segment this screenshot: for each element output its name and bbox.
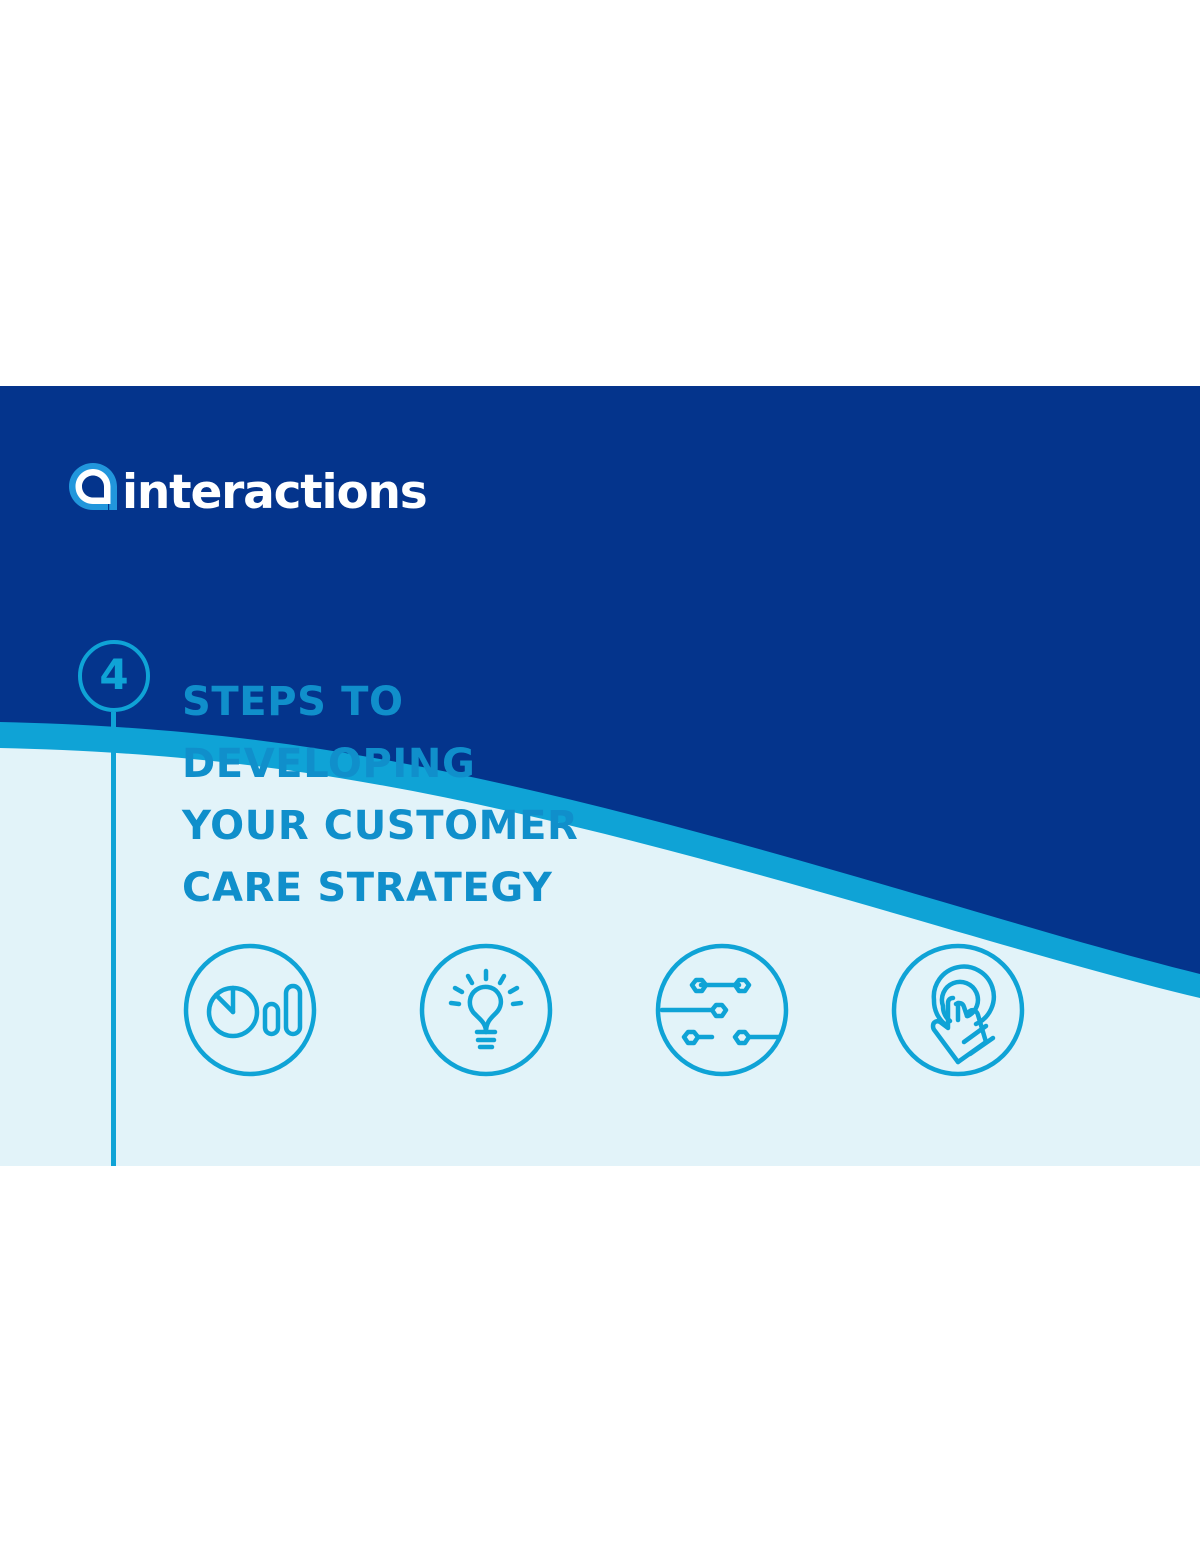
step-number-badge: 4	[78, 640, 150, 712]
badge-stem-line	[111, 712, 116, 1166]
brand-wordmark: interactions	[122, 469, 427, 516]
slide-page: interactions 4 STEPS TO DEVELOPING YOUR …	[0, 0, 1200, 1553]
step-number: 4	[99, 654, 128, 696]
lightbulb-icon	[418, 942, 554, 1078]
brand-logo: interactions	[62, 458, 427, 518]
title-line-1: STEPS TO	[182, 671, 802, 733]
title-line-4: CARE STRATEGY	[182, 857, 802, 919]
step-number-badge-wrap: 4	[78, 640, 154, 712]
title-line-3: YOUR CUSTOMER	[182, 795, 802, 857]
hand-tap-icon	[890, 942, 1026, 1078]
title-slide: interactions 4 STEPS TO DEVELOPING YOUR …	[0, 386, 1200, 1166]
page-title: STEPS TO DEVELOPING YOUR CUSTOMER CARE S…	[182, 671, 802, 919]
title-line-2: DEVELOPING	[182, 733, 802, 795]
circuit-nodes-icon	[654, 942, 790, 1078]
pie-chart-bars-icon	[182, 942, 318, 1078]
interactions-q-logo-icon	[62, 458, 124, 518]
step-icon-row	[182, 942, 1092, 1078]
